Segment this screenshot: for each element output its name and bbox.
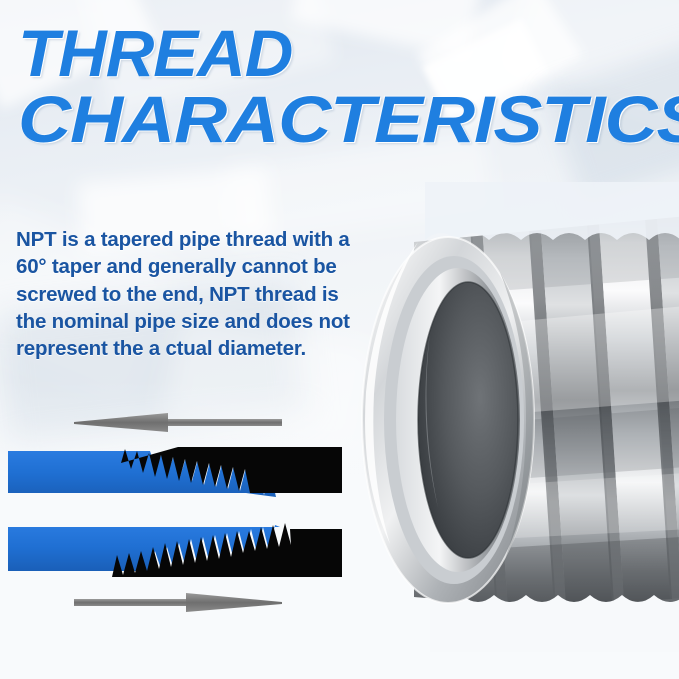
headline-line-2: CHARACTERISTICS xyxy=(18,88,679,150)
pipe-end-face xyxy=(362,237,534,603)
arrow-right xyxy=(74,593,282,612)
threaded-pipe-nipple-photo xyxy=(330,182,679,652)
headline-line-1: THREAD xyxy=(18,22,679,84)
arrow-left xyxy=(74,413,282,432)
thread-row-top xyxy=(8,447,342,497)
infographic-canvas: THREAD CHARACTERISTICS NPT is a tapered … xyxy=(0,0,679,679)
tapered-thread-engagement-diagram xyxy=(0,405,360,640)
description-text: NPT is a tapered pipe thread with a 60° … xyxy=(16,226,366,362)
pipe-top-scallops xyxy=(425,182,679,240)
thread-row-bottom xyxy=(8,509,342,577)
headline: THREAD CHARACTERISTICS xyxy=(18,22,678,150)
description-paragraph: NPT is a tapered pipe thread with a 60° … xyxy=(16,226,366,362)
pipe-bottom-scallops xyxy=(430,595,679,652)
